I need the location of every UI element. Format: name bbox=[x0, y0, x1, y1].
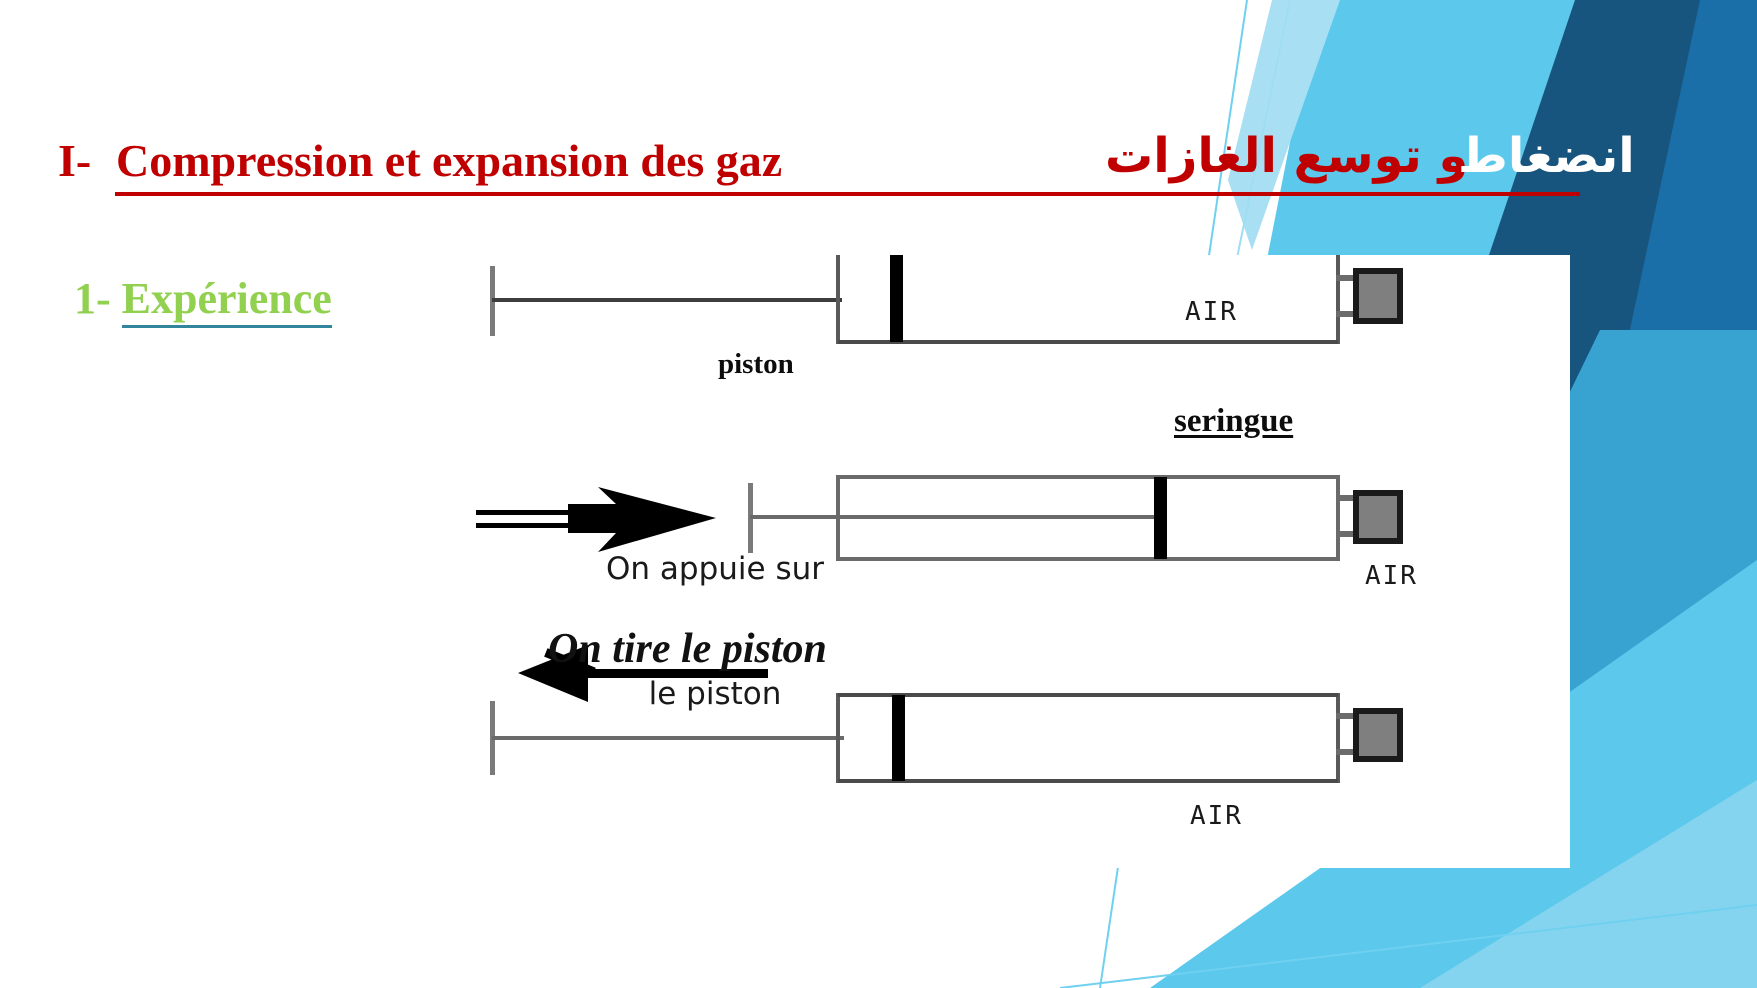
slide-subtitle: 1- Expérience bbox=[58, 255, 332, 315]
barrel-top-line-2 bbox=[838, 475, 1338, 479]
air-label-syringe-1: AIR bbox=[1185, 297, 1238, 327]
deco-left-edge bbox=[0, 0, 6, 988]
label-piston: piston bbox=[718, 348, 794, 381]
piston-head-2 bbox=[1154, 477, 1167, 559]
syringe-rest-group bbox=[490, 255, 1400, 344]
nozzle-2 bbox=[1356, 493, 1400, 541]
barrel-top-line-3 bbox=[838, 693, 1338, 697]
barrel-bottom-line-1 bbox=[838, 340, 1338, 344]
subtitle-number: 1- bbox=[74, 274, 122, 323]
label-pull-piston: On tire le piston bbox=[548, 625, 827, 673]
push-text-line-2: le piston bbox=[560, 674, 870, 716]
barrel-bottom-line-3 bbox=[838, 779, 1338, 783]
title-french-text: Compression et expansion des gaz bbox=[116, 138, 782, 184]
air-label-syringe-3: AIR bbox=[1190, 801, 1243, 831]
syringe-barrel-3 bbox=[838, 695, 1338, 781]
syringe-barrel-1 bbox=[838, 255, 1338, 342]
piston-rod-1 bbox=[492, 298, 842, 302]
presentation-slide: I- Compression et expansion des gaz و تو… bbox=[0, 0, 1757, 988]
push-text-line-1: On appuie sur bbox=[560, 549, 870, 591]
title-roman-numeral: I- bbox=[58, 138, 91, 184]
subtitle-word: Expérience bbox=[122, 274, 332, 328]
title-arabic-white-text: انضغاط bbox=[1458, 132, 1635, 180]
slide-title: I- Compression et expansion des gaz و تو… bbox=[58, 132, 1718, 204]
piston-head-1 bbox=[890, 255, 903, 342]
air-label-syringe-2: AIR bbox=[1365, 561, 1418, 591]
piston-head-3 bbox=[892, 695, 905, 781]
title-underline-arabic bbox=[1105, 192, 1580, 196]
nozzle-1 bbox=[1356, 271, 1400, 321]
title-arabic-red-text: و توسع الغازات bbox=[1105, 132, 1468, 180]
barrel-bottom-line-2 bbox=[838, 557, 1338, 561]
nozzle-3 bbox=[1356, 711, 1400, 759]
title-underline-french bbox=[115, 192, 1115, 196]
label-seringue: seringue bbox=[1174, 403, 1293, 440]
